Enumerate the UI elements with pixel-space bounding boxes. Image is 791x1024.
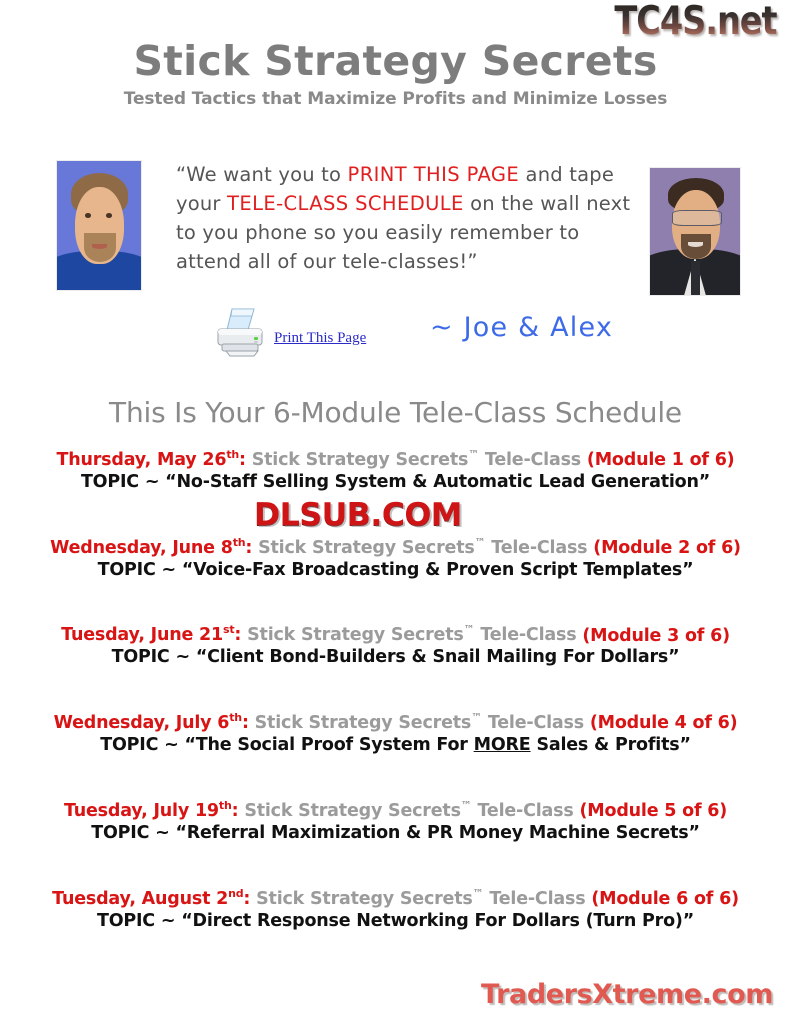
photo-eye-right — [106, 213, 113, 218]
module-date: Wednesday, July 6th: — [54, 713, 249, 733]
brand-logo-tc4s: TC4S.net — [615, 2, 777, 41]
module-entry: Wednesday, July 6th: Stick Strategy Secr… — [0, 711, 791, 755]
module-number-label: (Module 1 of 6) — [587, 450, 735, 470]
trademark-icon: ™ — [464, 624, 475, 637]
module-title-line: Tuesday, July 19th: Stick Strategy Secre… — [0, 799, 791, 821]
module-topic-line: TOPIC ~ “Client Bond-Builders & Snail Ma… — [0, 647, 791, 667]
photo-glasses — [672, 210, 723, 226]
module-topic-line: TOPIC ~ “Direct Response Networking For … — [0, 911, 791, 931]
module-date: Tuesday, August 2nd: — [52, 889, 250, 909]
module-entry: Tuesday, June 21st: Stick Strategy Secre… — [0, 624, 791, 668]
masthead: Stick Strategy Secrets Tested Tactics th… — [0, 40, 791, 109]
module-entry: Tuesday, August 2nd: Stick Strategy Secr… — [0, 887, 791, 931]
quote-highlight-tele-class-schedule: TELE-CLASS SCHEDULE — [227, 192, 464, 215]
print-this-page-link[interactable]: Print This Page — [274, 330, 366, 347]
trademark-icon: ™ — [473, 887, 484, 900]
footer-brand-tradersxtreme: TradersXtreme.com — [481, 979, 773, 1010]
module-topic-line: TOPIC ~ “No-Staff Selling System & Autom… — [0, 472, 791, 492]
trademark-icon: ™ — [468, 448, 479, 461]
module-course-name: Stick Strategy Secrets™ Tele-Class — [252, 538, 593, 558]
portrait-photo-alex — [650, 168, 740, 295]
module-topic-line: TOPIC ~ “The Social Proof System For MOR… — [0, 735, 791, 755]
module-title-line: Wednesday, July 6th: Stick Strategy Secr… — [0, 711, 791, 733]
photo-eye-left — [85, 213, 92, 218]
module-date: Thursday, May 26th: — [57, 450, 246, 470]
module-number-label: (Module 6 of 6) — [591, 889, 739, 909]
module-course-name: Stick Strategy Secrets™ Tele-Class — [246, 450, 587, 470]
module-date: Tuesday, July 19th: — [64, 801, 238, 821]
portrait-photo-joe — [57, 161, 141, 290]
schedule-heading: This Is Your 6-Module Tele-Class Schedul… — [0, 396, 791, 429]
module-number-label: (Module 2 of 6) — [593, 538, 741, 558]
module-topic-line: TOPIC ~ “Referral Maximization & PR Mone… — [0, 823, 791, 843]
photo-tie — [691, 261, 700, 295]
module-date-ordinal: st — [223, 624, 234, 637]
module-title-line: Tuesday, August 2nd: Stick Strategy Secr… — [0, 887, 791, 909]
module-date-ordinal: nd — [228, 887, 243, 900]
quote-highlight-print-this-page: PRINT THIS PAGE — [348, 163, 520, 186]
photo-mouth — [688, 242, 703, 247]
signature-joe-and-alex: ~ Joe & Alex — [430, 312, 613, 343]
module-title-line: Tuesday, June 21st: Stick Strategy Secre… — [0, 624, 791, 646]
module-date-ordinal: th — [219, 799, 232, 812]
module-date-ordinal: th — [229, 711, 242, 724]
module-date: Wednesday, June 8th: — [50, 538, 252, 558]
module-course-name: Stick Strategy Secrets™ Tele-Class — [241, 625, 582, 645]
module-course-name: Stick Strategy Secrets™ Tele-Class — [250, 889, 591, 909]
printer-icon — [214, 306, 270, 358]
testimonial-quote: “We want you to PRINT THIS PAGE and tape… — [176, 160, 638, 276]
module-entry: Tuesday, July 19th: Stick Strategy Secre… — [0, 799, 791, 843]
module-course-name: Stick Strategy Secrets™ Tele-Class — [249, 713, 590, 733]
module-date-ordinal: th — [226, 448, 239, 461]
watermark-dlsub: DLSUB.COM — [254, 497, 462, 533]
module-number-label: (Module 5 of 6) — [580, 801, 728, 821]
module-course-name: Stick Strategy Secrets™ Tele-Class — [238, 801, 579, 821]
page-subtitle: Tested Tactics that Maximize Profits and… — [0, 89, 791, 109]
print-this-page-row[interactable]: Print This Page — [214, 306, 366, 358]
module-entry: Thursday, May 26th: Stick Strategy Secre… — [0, 448, 791, 492]
module-entry: Wednesday, June 8th: Stick Strategy Secr… — [0, 536, 791, 580]
trademark-icon: ™ — [461, 799, 472, 812]
module-number-label: (Module 3 of 6) — [582, 625, 730, 645]
trademark-icon: ™ — [475, 536, 486, 549]
module-date: Tuesday, June 21st: — [61, 625, 241, 645]
module-title-line: Wednesday, June 8th: Stick Strategy Secr… — [0, 536, 791, 558]
trademark-icon: ™ — [471, 711, 482, 724]
page-title: Stick Strategy Secrets — [0, 40, 791, 83]
module-number-label: (Module 4 of 6) — [590, 713, 738, 733]
module-topic-emphasis: MORE — [474, 735, 531, 755]
module-topic-line: TOPIC ~ “Voice-Fax Broadcasting & Proven… — [0, 560, 791, 580]
module-title-line: Thursday, May 26th: Stick Strategy Secre… — [0, 448, 791, 470]
module-date-ordinal: th — [233, 536, 246, 549]
photo-mouth — [92, 244, 107, 249]
quote-text-part-1: “We want you to — [176, 163, 348, 186]
